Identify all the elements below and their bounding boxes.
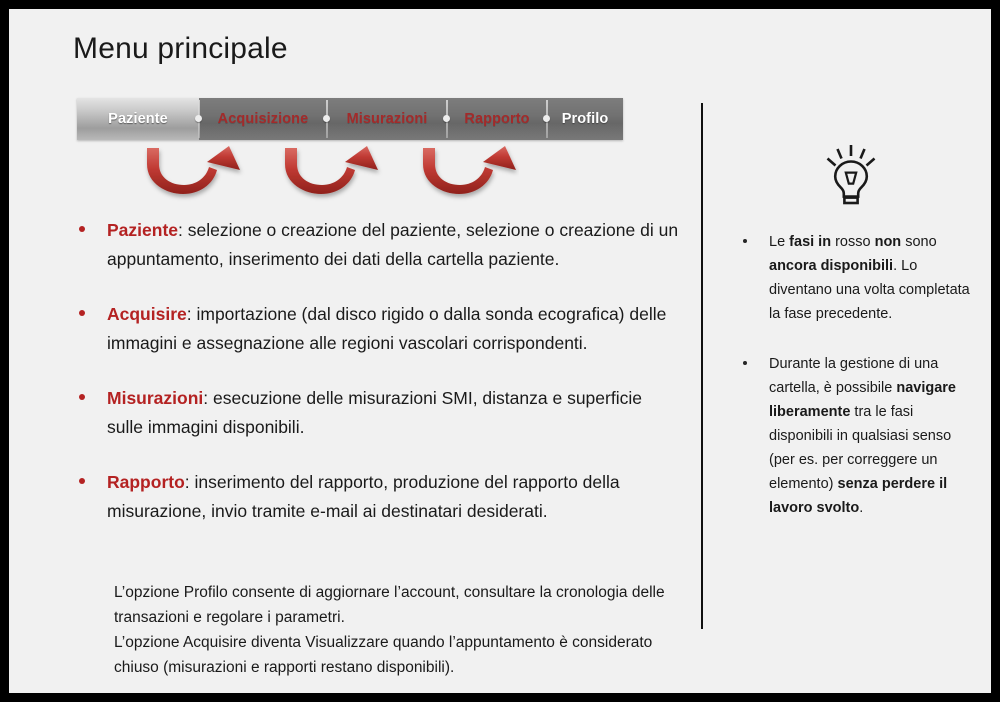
slide-canvas: Menu principale Paziente Acquisizione Mi… xyxy=(9,9,991,693)
curved-arrow-icon xyxy=(147,146,240,194)
nav-item-label: Profilo xyxy=(562,111,609,127)
bullet-dot xyxy=(743,361,747,365)
bullet-dot xyxy=(79,478,85,484)
list-item-lead: Paziente xyxy=(107,220,178,240)
list-item: Acquisire: importazione (dal disco rigid… xyxy=(71,300,681,358)
list-item-lead: Acquisire xyxy=(107,304,187,324)
footnote-block: L’opzione Profilo consente di aggiornare… xyxy=(114,580,694,680)
nav-item-misurazioni[interactable]: Misurazioni xyxy=(327,98,447,140)
nav-item-label: Rapporto xyxy=(464,111,529,127)
page-title: Menu principale xyxy=(73,29,288,69)
main-bullet-list: Paziente: selezione o creazione del pazi… xyxy=(71,216,681,526)
nav-item-paziente[interactable]: Paziente xyxy=(77,98,199,140)
lightbulb-icon xyxy=(821,143,881,205)
list-item-text: selezione o creazione del paziente, sele… xyxy=(107,220,678,269)
vertical-divider xyxy=(701,103,703,629)
list-item-separator: : xyxy=(178,220,188,240)
nav-separator-dot xyxy=(443,115,450,122)
nav-item-profilo[interactable]: Profilo xyxy=(547,98,623,140)
bullet-dot xyxy=(79,310,85,316)
list-item: Le fasi in rosso non sono ancora disponi… xyxy=(733,230,977,326)
navbar: Paziente Acquisizione Misurazioni Rappor… xyxy=(77,98,623,140)
nav-item-label: Paziente xyxy=(108,111,168,127)
nav-separator-dot xyxy=(323,115,330,122)
navbar-graphic: Paziente Acquisizione Misurazioni Rappor… xyxy=(77,98,623,140)
lightbulb-svg xyxy=(821,143,881,205)
nav-item-rapporto[interactable]: Rapporto xyxy=(447,98,547,140)
bullet-dot xyxy=(79,226,85,232)
list-item-separator: : xyxy=(203,388,213,408)
curved-arrow-icon xyxy=(423,146,516,194)
bullet-dot xyxy=(743,239,747,243)
nav-item-label: Acquisizione xyxy=(218,111,309,127)
arrows-svg xyxy=(139,140,519,202)
side-bullet-list: Le fasi in rosso non sono ancora disponi… xyxy=(733,230,977,520)
nav-separator-dot xyxy=(543,115,550,122)
list-item: Rapporto: inserimento del rapporto, prod… xyxy=(71,468,681,526)
side-item-text: Durante la gestione di una cartella, è p… xyxy=(769,356,956,516)
list-item-lead: Rapporto xyxy=(107,472,185,492)
footnote-line-2: L’opzione Acquisire diventa Visualizzare… xyxy=(114,630,694,680)
navigation-arrows-group xyxy=(139,140,519,202)
slide-frame: Menu principale Paziente Acquisizione Mi… xyxy=(0,0,1000,702)
list-item-lead: Misurazioni xyxy=(107,388,203,408)
list-item: Paziente: selezione o creazione del pazi… xyxy=(71,216,681,274)
list-item: Misurazioni: esecuzione delle misurazion… xyxy=(71,384,681,442)
nav-item-acquisizione[interactable]: Acquisizione xyxy=(199,98,327,140)
nav-item-label: Misurazioni xyxy=(347,111,428,127)
footnote-line-1: L’opzione Profilo consente di aggiornare… xyxy=(114,580,694,630)
bullet-dot xyxy=(79,394,85,400)
list-item: Durante la gestione di una cartella, è p… xyxy=(733,352,977,520)
list-item-separator: : xyxy=(185,472,195,492)
curved-arrow-icon xyxy=(285,146,378,194)
side-item-text: Le fasi in rosso non sono ancora disponi… xyxy=(769,234,970,322)
nav-separator-dot xyxy=(195,115,202,122)
